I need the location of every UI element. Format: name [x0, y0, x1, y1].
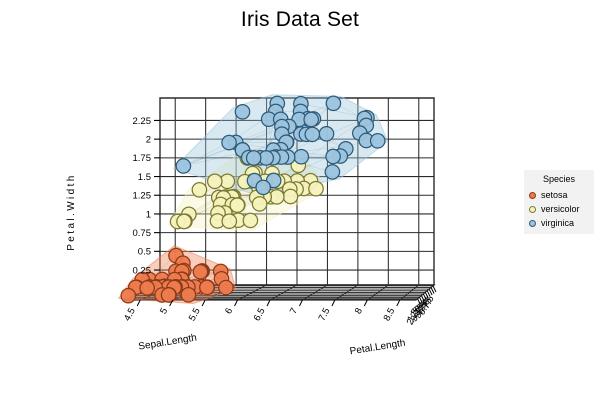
- svg-text:2.25: 2.25: [133, 116, 152, 127]
- legend-item-label: setosa: [541, 189, 568, 201]
- svg-text:1.5: 1.5: [138, 172, 151, 183]
- legend-item-versicolor[interactable]: versicolor: [524, 202, 594, 216]
- svg-text:6: 6: [223, 306, 235, 316]
- svg-text:7.5: 7.5: [317, 306, 333, 323]
- legend-title: Species: [524, 170, 594, 187]
- chart-root: Iris Data Set 0.250.50.7511.251.51.7522.…: [0, 0, 600, 400]
- svg-text:7: 7: [288, 306, 300, 316]
- svg-text:Sepal.Length: Sepal.Length: [138, 332, 198, 352]
- legend-item-virginica[interactable]: virginica: [524, 216, 594, 230]
- legend-item-setosa[interactable]: setosa: [524, 188, 594, 202]
- svg-text:8: 8: [353, 306, 365, 316]
- legend-swatch-icon: [529, 192, 536, 199]
- legend-item-label: virginica: [541, 217, 574, 229]
- svg-text:4.5: 4.5: [122, 306, 138, 323]
- svg-text:Petal.Width: Petal.Width: [66, 173, 77, 251]
- y-axis: 0.250.50.7511.251.51.7522.25Petal.Width: [66, 116, 160, 277]
- legend-items: setosaversicolorvirginica: [524, 187, 594, 234]
- svg-text:5.5: 5.5: [187, 306, 203, 323]
- svg-text:0.5: 0.5: [138, 247, 151, 258]
- legend: Species setosaversicolorvirginica: [524, 170, 594, 234]
- legend-swatch-icon: [529, 220, 536, 227]
- svg-text:6.5: 6.5: [252, 306, 268, 323]
- legend-swatch-icon: [529, 206, 536, 213]
- svg-text:Petal.Length: Petal.Length: [349, 338, 406, 358]
- svg-text:1: 1: [146, 209, 151, 220]
- svg-text:1.75: 1.75: [133, 153, 152, 164]
- scatter3d-canvas: 0.250.50.7511.251.51.7522.25Petal.Width …: [0, 0, 600, 400]
- svg-text:8.5: 8.5: [382, 306, 398, 323]
- svg-text:0.75: 0.75: [133, 228, 152, 239]
- svg-text:1.25: 1.25: [133, 191, 152, 202]
- svg-text:0.25: 0.25: [133, 265, 152, 276]
- svg-text:5: 5: [158, 306, 170, 316]
- legend-item-label: versicolor: [541, 203, 580, 215]
- svg-text:2: 2: [146, 135, 151, 146]
